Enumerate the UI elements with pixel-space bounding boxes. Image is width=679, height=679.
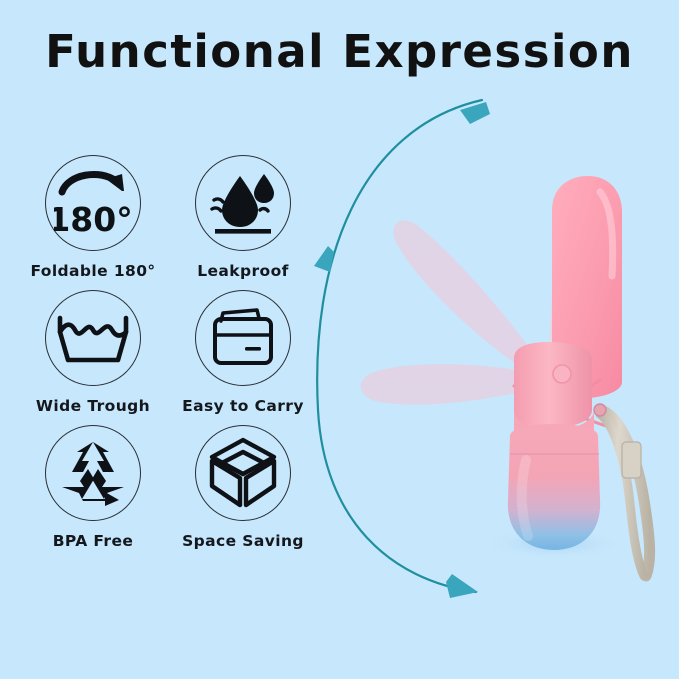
feature-easy-to-carry[interactable]: Easy to Carry: [178, 290, 308, 425]
feature-label: Foldable 180°: [30, 262, 155, 280]
handheld-folding-fan-illustration: [300, 80, 679, 640]
feature-icon-text: 180°: [54, 200, 132, 239]
fan-head: [514, 342, 592, 428]
poster-canvas: Functional Expression 180° Foldable 180°: [0, 0, 679, 679]
feature-icon-circle: [45, 290, 141, 386]
feature-bpa-free[interactable]: BPA Free: [28, 425, 158, 560]
rotation-arc: [314, 100, 490, 598]
feature-label: Easy to Carry: [182, 397, 304, 415]
feature-space-saving[interactable]: Space Saving: [178, 425, 308, 560]
feature-wide-trough[interactable]: Wide Trough: [28, 290, 158, 425]
strap-anchor: [594, 404, 606, 416]
feature-icon-circle: [45, 425, 141, 521]
water-droplet-icon: [207, 168, 279, 238]
feature-icon-circle: [195, 155, 291, 251]
handbag-icon: [207, 307, 279, 369]
rotate-180-degrees-icon: 180°: [54, 165, 132, 241]
feature-icon-circle: 180°: [45, 155, 141, 251]
pivot-knob: [553, 365, 571, 383]
feature-leakproof[interactable]: Leakproof: [178, 155, 308, 290]
feature-label: BPA Free: [53, 532, 134, 550]
page-title: Functional Expression: [0, 25, 679, 78]
feature-foldable-180[interactable]: 180° Foldable 180°: [28, 155, 158, 290]
wash-basin-icon: [55, 310, 131, 366]
feature-label: Leakproof: [197, 262, 289, 280]
product-image: [300, 80, 679, 640]
feature-icon-circle: [195, 425, 291, 521]
recycle-icon: [58, 440, 128, 506]
cube-icon: [208, 437, 278, 509]
feature-label: Space Saving: [182, 532, 304, 550]
feature-icon-circle: [195, 290, 291, 386]
arc-arrowhead-bottom: [446, 574, 478, 598]
feature-grid: 180° Foldable 180° Leakproof: [28, 155, 308, 560]
feature-label: Wide Trough: [36, 397, 150, 415]
strap-slider: [622, 442, 641, 478]
